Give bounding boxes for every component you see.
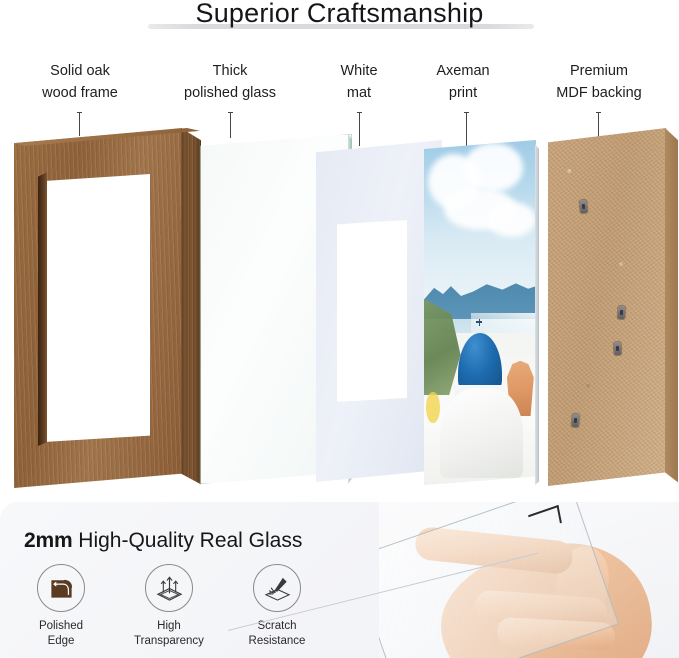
santorini-photo bbox=[424, 140, 536, 485]
backing-clip-tab bbox=[579, 200, 587, 214]
backing-clip-tab bbox=[614, 342, 622, 355]
mat-window-cutout bbox=[337, 220, 407, 402]
glass-thickness-value: 2mm bbox=[24, 529, 72, 552]
callout-label-print: Axeman print bbox=[410, 60, 516, 104]
frame-opening bbox=[44, 174, 150, 442]
mdf-board bbox=[548, 128, 666, 486]
photo-dome-cross bbox=[479, 319, 481, 326]
frame-inner-rabbet bbox=[38, 170, 47, 446]
glass-headline-text: High-Quality Real Glass bbox=[72, 529, 302, 552]
photo-white-wall bbox=[440, 388, 523, 478]
callout-label-mat: White mat bbox=[310, 60, 408, 104]
glass-feature-list: Polished Edge High Transpa bbox=[22, 564, 316, 649]
glass-feature-panel: 2mm High-Quality Real Glass Polished Edg… bbox=[0, 502, 679, 658]
scratch-resistance-icon bbox=[253, 564, 301, 612]
backing-clip-tab bbox=[618, 306, 626, 319]
photo-cloud bbox=[487, 202, 536, 237]
infographic-canvas: Superior Craftsmanship Solid oak wood fr… bbox=[0, 0, 679, 658]
photo-cloud bbox=[464, 143, 522, 191]
photo-yellow-accent bbox=[426, 392, 439, 423]
product-part-mdf-backing bbox=[548, 128, 678, 486]
page-title: Superior Craftsmanship bbox=[0, 0, 679, 30]
polished-edge-icon bbox=[37, 564, 85, 612]
high-transparency-icon bbox=[145, 564, 193, 612]
backing-clip-tab bbox=[571, 414, 579, 428]
glass-panel-headline: 2mm High-Quality Real Glass bbox=[24, 529, 302, 553]
product-part-print bbox=[424, 140, 536, 485]
frame-side-edge bbox=[181, 128, 201, 488]
feature-scratch-resistance: Scratch Resistance bbox=[238, 564, 316, 649]
callout-label-glass: Thick polished glass bbox=[158, 60, 302, 104]
print-right-edge bbox=[535, 140, 539, 485]
callout-label-wood-frame: Solid oak wood frame bbox=[10, 60, 150, 104]
feature-label: Polished Edge bbox=[22, 619, 100, 649]
callout-label-mdf: Premium MDF backing bbox=[525, 60, 673, 104]
product-part-wood-frame bbox=[14, 128, 200, 488]
feature-high-transparency: High Transparency bbox=[130, 564, 208, 649]
feature-label: High Transparency bbox=[130, 619, 208, 649]
feature-polished-edge: Polished Edge bbox=[22, 564, 100, 649]
mdf-side-edge bbox=[665, 128, 678, 486]
header: Superior Craftsmanship bbox=[0, 0, 679, 36]
